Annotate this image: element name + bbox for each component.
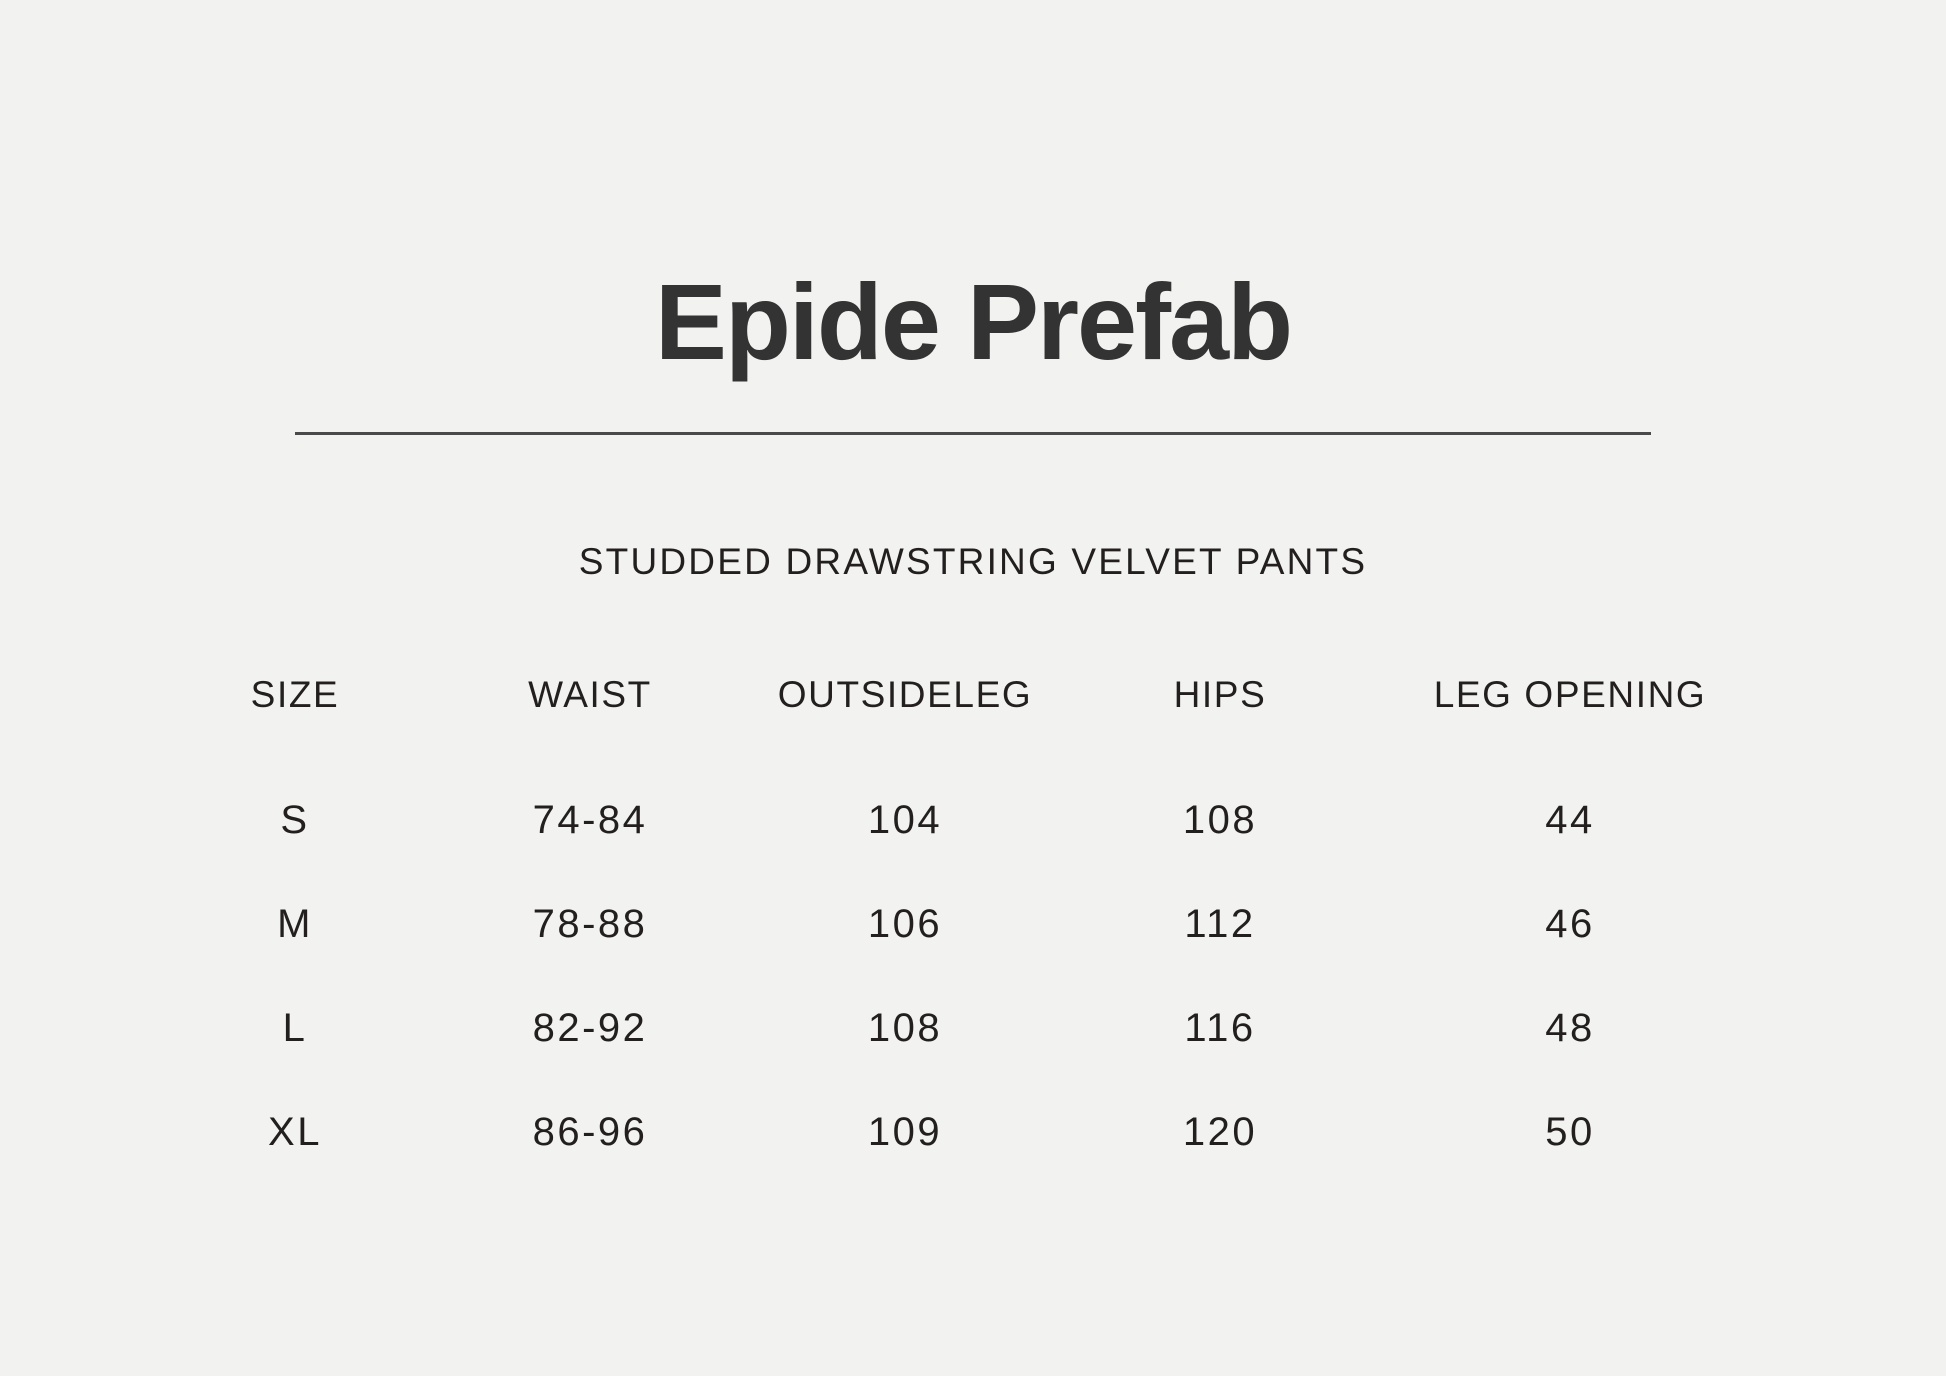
cell-outsideleg: 109 xyxy=(740,1080,1070,1184)
table-header: SIZE WAIST OUTSIDELEG HIPS LEG OPENING xyxy=(150,640,1770,750)
cell-hips: 112 xyxy=(1070,872,1370,976)
cell-size: L xyxy=(150,976,440,1080)
column-header-hips: HIPS xyxy=(1070,640,1370,750)
table-row: M 78-88 106 112 46 xyxy=(150,872,1770,976)
column-header-leg-opening: LEG OPENING xyxy=(1370,640,1770,750)
size-chart-page: Epide Prefab STUDDED DRAWSTRING VELVET P… xyxy=(0,0,1946,1376)
table-body: S 74-84 104 108 44 M 78-88 106 112 46 L … xyxy=(150,750,1770,1184)
column-header-size: SIZE xyxy=(150,640,440,750)
cell-size: S xyxy=(150,750,440,872)
header-divider xyxy=(295,432,1651,435)
cell-leg-opening: 50 xyxy=(1370,1080,1770,1184)
cell-leg-opening: 46 xyxy=(1370,872,1770,976)
cell-waist: 74-84 xyxy=(440,750,740,872)
cell-hips: 116 xyxy=(1070,976,1370,1080)
product-name: STUDDED DRAWSTRING VELVET PANTS xyxy=(0,541,1946,583)
cell-hips: 120 xyxy=(1070,1080,1370,1184)
cell-waist: 82-92 xyxy=(440,976,740,1080)
table-row: XL 86-96 109 120 50 xyxy=(150,1080,1770,1184)
size-chart-table: SIZE WAIST OUTSIDELEG HIPS LEG OPENING S… xyxy=(150,640,1770,1184)
column-header-outsideleg: OUTSIDELEG xyxy=(740,640,1070,750)
table-row: L 82-92 108 116 48 xyxy=(150,976,1770,1080)
cell-size: M xyxy=(150,872,440,976)
cell-hips: 108 xyxy=(1070,750,1370,872)
cell-leg-opening: 48 xyxy=(1370,976,1770,1080)
cell-leg-opening: 44 xyxy=(1370,750,1770,872)
cell-waist: 78-88 xyxy=(440,872,740,976)
cell-size: XL xyxy=(150,1080,440,1184)
table-row: S 74-84 104 108 44 xyxy=(150,750,1770,872)
table-header-row: SIZE WAIST OUTSIDELEG HIPS LEG OPENING xyxy=(150,640,1770,750)
column-header-waist: WAIST xyxy=(440,640,740,750)
cell-outsideleg: 108 xyxy=(740,976,1070,1080)
cell-waist: 86-96 xyxy=(440,1080,740,1184)
cell-outsideleg: 104 xyxy=(740,750,1070,872)
cell-outsideleg: 106 xyxy=(740,872,1070,976)
page-title: Epide Prefab xyxy=(0,268,1946,376)
